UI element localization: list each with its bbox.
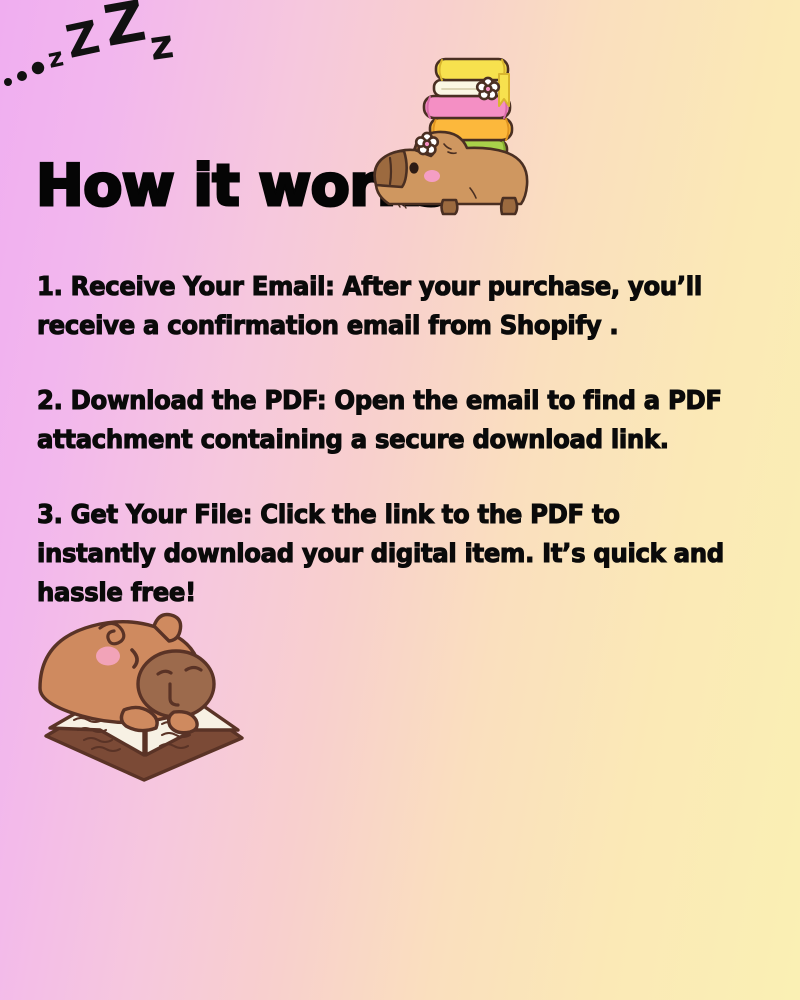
book-yellow	[436, 59, 508, 80]
svg-text:z: z	[147, 21, 176, 70]
svg-text:Z: Z	[99, 0, 150, 60]
svg-text:Z: Z	[61, 10, 104, 69]
step-item-3: 3. Get Your File: Click the link to the …	[37, 496, 730, 613]
book-pink	[424, 96, 510, 118]
sleep-letters: z Z Z z	[45, 0, 176, 75]
capybara-with-book-stack-illustration	[352, 48, 552, 238]
sleeping-capybara-body	[40, 614, 214, 732]
step-item-1: 1. Receive Your Email: After your purcha…	[37, 268, 730, 346]
sleep-dots	[4, 62, 44, 86]
sleeping-capybara-illustration	[28, 592, 258, 792]
steps-list: 1. Receive Your Email: After your purcha…	[37, 268, 763, 613]
svg-text:z: z	[45, 42, 66, 74]
step-item-2: 2. Download the PDF: Open the email to f…	[37, 382, 730, 460]
sleep-zzz-illustration: z Z Z z	[0, 0, 215, 95]
poster-canvas: How it works	[0, 0, 800, 1000]
